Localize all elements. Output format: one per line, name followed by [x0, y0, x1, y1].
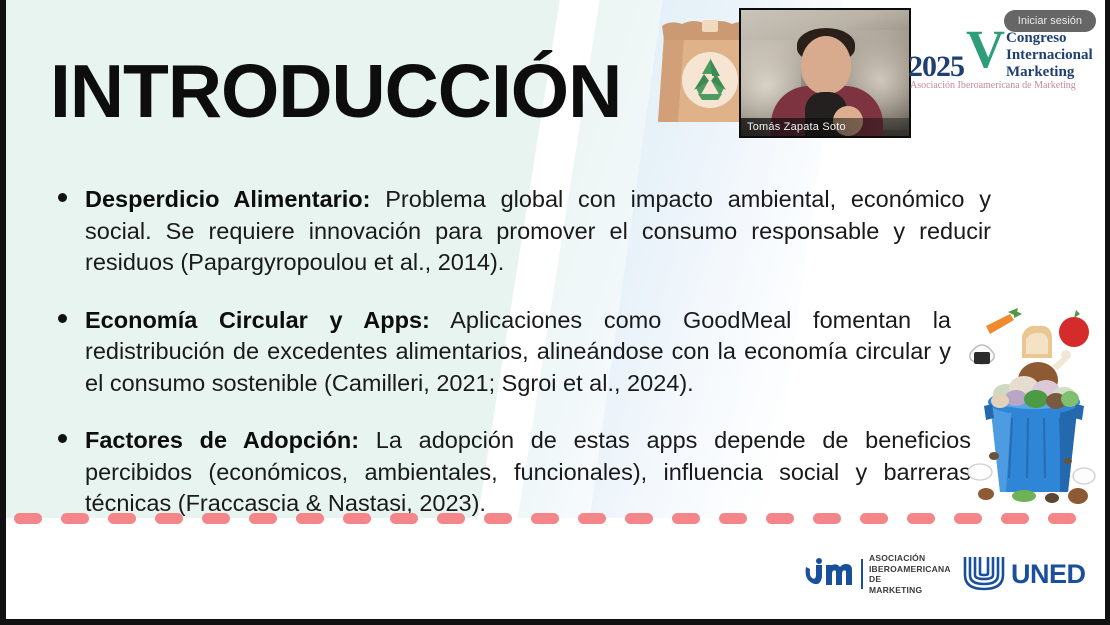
- webcam-person-head: [801, 36, 851, 94]
- congress-line-3: Marketing: [1006, 64, 1093, 81]
- aim-wordmark-icon: [802, 557, 858, 591]
- divider-dash: [296, 513, 324, 524]
- uned-logo: UNED: [962, 553, 1102, 595]
- bullet-lead: Economía Circular y Apps:: [85, 307, 430, 333]
- aim-line-2: IBEROAMERICANA DE: [869, 564, 962, 585]
- overflowing-food-waste-bin-icon: [964, 306, 1104, 506]
- apple-icon: [1059, 310, 1089, 347]
- aim-line-1: ASOCIACIÓN: [869, 553, 962, 564]
- list-item: Factores de Adopción: La adopción de est…: [52, 425, 972, 520]
- divider-dash: [625, 513, 653, 524]
- webcam-name-bar: Tomás Zapata Soto: [741, 118, 909, 136]
- divider-dash: [343, 513, 371, 524]
- webcam-video-tile[interactable]: Tomás Zapata Soto: [739, 8, 911, 138]
- onigiri-icon: [970, 345, 995, 364]
- bread-slice-icon: [1022, 326, 1052, 358]
- list-item: Economía Circular y Apps: Aplicaciones c…: [52, 305, 972, 400]
- uned-label: UNED: [1011, 559, 1086, 590]
- frame-edge-right: [1105, 0, 1110, 625]
- divider-dash: [484, 513, 512, 524]
- bullet-lead: Factores de Adopción:: [85, 427, 359, 453]
- divider-dash: [813, 513, 841, 524]
- bullet-text: Factores de Adopción: La adopción de est…: [85, 425, 971, 520]
- divider-dash: [954, 513, 982, 524]
- divider-dash: [672, 513, 700, 524]
- login-button[interactable]: Iniciar sesión: [1004, 10, 1096, 32]
- footer-logos: ASOCIACIÓN IBEROAMERICANA DE MARKETING U…: [802, 551, 1102, 599]
- divider-dash: [202, 513, 230, 524]
- presentation-viewport: INTRODUCCIÓN Desperdicio Alimentario: Pr…: [0, 0, 1110, 625]
- divider-dash: [531, 513, 559, 524]
- divider-dash: [1001, 513, 1029, 524]
- bullet-dot-icon: [58, 434, 67, 443]
- aim-text-block: ASOCIACIÓN IBEROAMERICANA DE MARKETING: [869, 553, 962, 595]
- aim-divider: [861, 559, 863, 589]
- page-title: INTRODUCCIÓN: [50, 52, 621, 130]
- divider-dash: [108, 513, 136, 524]
- dashed-divider: [14, 512, 1099, 524]
- bullet-list: Desperdicio Alimentario: Problema global…: [52, 184, 972, 546]
- divider-dash: [390, 513, 418, 524]
- uned-emblem-icon: [962, 555, 1006, 593]
- congress-line-2: Internacional: [1006, 47, 1093, 64]
- congress-title-lines: Congreso Internacional Marketing: [1006, 30, 1093, 81]
- divider-dash: [249, 513, 277, 524]
- divider-dash: [766, 513, 794, 524]
- waste-pile: [991, 376, 1079, 409]
- divider-dash: [437, 513, 465, 524]
- participant-name-label: Tomás Zapata Soto: [741, 121, 846, 133]
- divider-dash: [719, 513, 747, 524]
- frame-edge-left: [0, 0, 6, 625]
- divider-dash: [155, 513, 183, 524]
- divider-dash: [860, 513, 888, 524]
- aim-logo: ASOCIACIÓN IBEROAMERICANA DE MARKETING: [802, 553, 962, 595]
- congress-line-1: Congreso: [1006, 30, 1093, 47]
- bullet-dot-icon: [58, 193, 67, 202]
- divider-dash: [578, 513, 606, 524]
- divider-dash: [61, 513, 89, 524]
- frame-edge-bottom: [0, 619, 1110, 625]
- congress-year: 2025: [908, 50, 964, 84]
- carrot-icon: [986, 308, 1022, 334]
- bullet-lead: Desperdicio Alimentario:: [85, 186, 371, 212]
- bullet-text: Desperdicio Alimentario: Problema global…: [85, 184, 991, 279]
- congress-roman-numeral: V: [966, 22, 1005, 76]
- congress-subtitle: Asociación Iberoamericana de Marketing: [910, 80, 1076, 91]
- divider-dash: [1048, 513, 1076, 524]
- list-item: Desperdicio Alimentario: Problema global…: [52, 184, 972, 279]
- divider-dash: [14, 513, 42, 524]
- aim-line-3: MARKETING: [869, 585, 962, 596]
- bullet-dot-icon: [58, 314, 67, 323]
- bullet-text: Economía Circular y Apps: Aplicaciones c…: [85, 305, 951, 400]
- divider-dash: [907, 513, 935, 524]
